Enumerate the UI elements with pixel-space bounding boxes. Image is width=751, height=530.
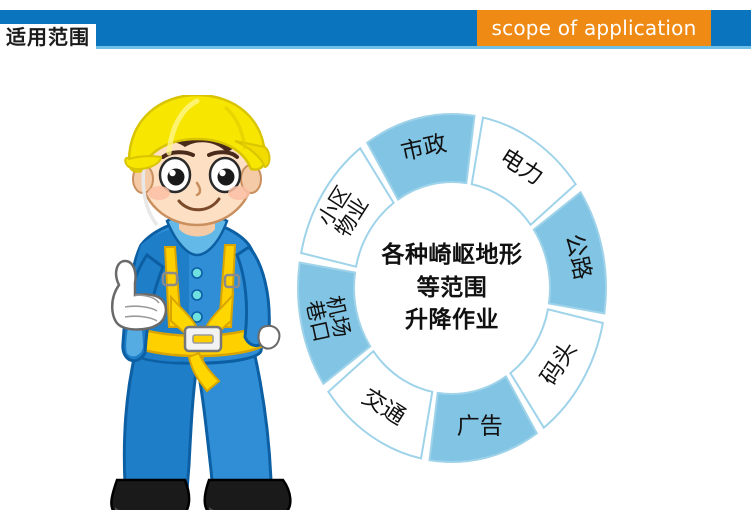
- worker-button: [192, 268, 202, 278]
- worker-left-boot: [111, 480, 189, 510]
- donut-center-line: 各种崎岖地形: [382, 239, 523, 272]
- worker-button: [192, 290, 202, 300]
- header-underline-accent: [0, 46, 751, 49]
- page-title-english: scope of application: [492, 16, 697, 40]
- worker-right-hand: [259, 326, 280, 349]
- scope-donut-chart: 电力公路码头广告交通机场巷口小区物业市政 各种崎岖地形等范围升降作业: [296, 112, 608, 464]
- page-title-chinese-block: 适用范围: [0, 24, 96, 51]
- donut-center-line: 等范围: [382, 272, 523, 305]
- construction-worker-illustration: [85, 95, 315, 510]
- donut-center-line: 升降作业: [382, 304, 523, 337]
- worker-right-boot: [205, 480, 291, 510]
- worker-cheek: [228, 186, 250, 200]
- page-title-english-block: scope of application: [477, 10, 711, 46]
- worker-cheek: [148, 186, 170, 200]
- donut-center-text: 各种崎岖地形等范围升降作业: [382, 239, 523, 337]
- page-title-chinese: 适用范围: [6, 26, 90, 48]
